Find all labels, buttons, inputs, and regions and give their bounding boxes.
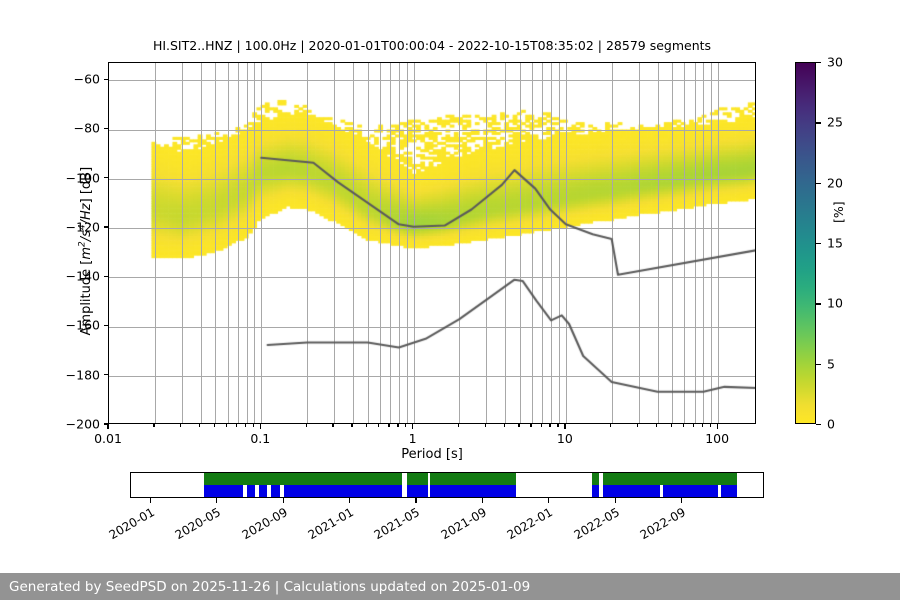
timeline-segment-blue [284, 485, 402, 497]
timeline-tick-label: 2020-01 [101, 505, 156, 545]
y-axis-tick-label: −200 [54, 417, 100, 432]
x-axis-major-tick [412, 424, 413, 429]
x-axis-tick-label: 10 [535, 431, 595, 446]
timeline-segment-blue [259, 485, 268, 497]
y-axis-tick-mark [104, 374, 108, 375]
timeline-segment-blue [271, 485, 280, 497]
y-axis-tick-mark [104, 276, 108, 277]
timeline-tick-mark [482, 498, 483, 503]
x-axis-minor-tick [180, 424, 181, 427]
x-axis-minor-tick [610, 424, 611, 427]
timeline-tick-label: 2022-01 [500, 505, 555, 545]
colorbar-label: [%] [831, 201, 846, 223]
x-axis-minor-tick [683, 424, 684, 427]
colorbar-tick-mark [816, 243, 821, 244]
x-axis-minor-tick [226, 424, 227, 427]
y-axis-tick-label: −60 [54, 72, 100, 87]
x-axis-minor-tick [351, 424, 352, 427]
x-axis-minor-tick [405, 424, 406, 427]
colorbar-tick-label: 15 [827, 236, 843, 251]
timeline-segment-blue [603, 485, 660, 497]
psd-plot-area [108, 62, 756, 424]
x-axis-minor-tick [702, 424, 703, 427]
timeline-segment-green [592, 473, 600, 485]
timeline-segment-green [430, 473, 516, 485]
x-axis-tick-label: 1 [383, 431, 443, 446]
footer-bar: Generated by SeedPSD on 2025-11-26 | Cal… [0, 573, 900, 600]
y-axis-tick-mark [104, 325, 108, 326]
timeline-tick-mark [216, 498, 217, 503]
x-axis-minor-tick [485, 424, 486, 427]
colorbar-tick-label: 20 [827, 175, 843, 190]
timeline-segment-blue [204, 485, 244, 497]
x-axis-minor-tick [388, 424, 389, 427]
colorbar-tick-label: 30 [827, 55, 843, 70]
colorbar-tick-label: 5 [827, 356, 835, 371]
x-axis-minor-tick [378, 424, 379, 427]
timeline-tick-label: 2021-09 [433, 505, 488, 545]
x-axis-minor-tick [199, 424, 200, 427]
y-axis-tick-label: −140 [54, 269, 100, 284]
x-axis-tick-label: 0.01 [78, 431, 138, 446]
y-axis-tick-label: −160 [54, 318, 100, 333]
colorbar-tick-mark [816, 424, 821, 425]
x-axis-minor-tick [504, 424, 505, 427]
x-axis-minor-tick [557, 424, 558, 427]
timeline-segment-green [603, 473, 737, 485]
x-axis-minor-tick [214, 424, 215, 427]
psd-figure: HI.SIT2..HNZ | 100.0Hz | 2020-01-01T00:0… [0, 0, 900, 600]
colorbar-tick-mark [816, 303, 821, 304]
timeline-segment-blue [430, 485, 516, 497]
timeline-tick-label: 2021-01 [301, 505, 356, 545]
x-axis-minor-tick [637, 424, 638, 427]
colorbar-gradient [796, 63, 815, 423]
x-axis-minor-tick [530, 424, 531, 427]
timeline-segment-blue [247, 485, 255, 497]
colorbar-tick-label: 10 [827, 296, 843, 311]
colorbar-tick-mark [816, 122, 821, 123]
x-axis-minor-tick [236, 424, 237, 427]
x-axis-minor-tick [549, 424, 550, 427]
data-availability-timeline [130, 472, 764, 498]
x-axis-minor-tick [366, 424, 367, 427]
x-axis-major-tick [717, 424, 718, 429]
y-axis-tick-mark [104, 79, 108, 80]
timeline-tick-mark [548, 498, 549, 503]
y-axis-tick-label: −180 [54, 367, 100, 382]
y-axis-label: Amplitude [m2/s4/Hz] [dB] [78, 101, 94, 401]
x-axis-minor-tick [306, 424, 307, 427]
x-axis-major-tick [564, 424, 565, 429]
timeline-tick-label: 2022-05 [566, 505, 621, 545]
x-axis-minor-tick [332, 424, 333, 427]
y-axis-tick-label: −100 [54, 170, 100, 185]
timeline-tick-label: 2022-09 [633, 505, 688, 545]
colorbar-tick-label: 0 [827, 417, 835, 432]
timeline-segment-blue [721, 485, 737, 497]
x-axis-tick-label: 100 [687, 431, 747, 446]
x-axis-major-tick [107, 424, 108, 429]
x-axis-minor-tick [656, 424, 657, 427]
x-axis-major-tick [260, 424, 261, 429]
colorbar-tick-label: 25 [827, 115, 843, 130]
colorbar-tick-mark [816, 62, 821, 63]
y-axis-tick-mark [104, 128, 108, 129]
y-axis-tick-mark [104, 177, 108, 178]
timeline-segment-green [204, 473, 403, 485]
y-axis-tick-label: −80 [54, 121, 100, 136]
timeline-tick-mark [150, 498, 151, 503]
x-axis-minor-tick [253, 424, 254, 427]
x-axis-minor-tick [458, 424, 459, 427]
x-axis-minor-tick [245, 424, 246, 427]
x-axis-minor-tick [541, 424, 542, 427]
timeline-tick-mark [415, 498, 416, 503]
noise-model-curves [109, 63, 756, 424]
timeline-tick-label: 2021-05 [367, 505, 422, 545]
x-axis-minor-tick [153, 424, 154, 427]
page-title: HI.SIT2..HNZ | 100.0Hz | 2020-01-01T00:0… [108, 38, 756, 53]
timeline-tick-label: 2020-09 [234, 505, 289, 545]
colorbar-tick-mark [816, 183, 821, 184]
timeline-segment-blue [592, 485, 600, 497]
x-axis-minor-tick [693, 424, 694, 427]
x-axis-minor-tick [518, 424, 519, 427]
footer-text: Generated by SeedPSD on 2025-11-26 | Cal… [0, 579, 530, 595]
y-axis-tick-label: −120 [54, 219, 100, 234]
x-axis-minor-tick [710, 424, 711, 427]
timeline-tick-mark [283, 498, 284, 503]
timeline-tick-label: 2020-05 [168, 505, 223, 545]
timeline-tick-mark [615, 498, 616, 503]
timeline-segment-green [407, 473, 428, 485]
timeline-segment-blue [663, 485, 718, 497]
colorbar [795, 62, 816, 424]
y-axis-tick-mark [104, 226, 108, 227]
x-axis-tick-label: 0.1 [230, 431, 290, 446]
timeline-segment-blue [407, 485, 428, 497]
x-axis-label: Period [s] [108, 447, 756, 462]
timeline-tick-mark [681, 498, 682, 503]
x-axis-minor-tick [671, 424, 672, 427]
colorbar-tick-mark [816, 364, 821, 365]
x-axis-minor-tick [397, 424, 398, 427]
timeline-tick-mark [349, 498, 350, 503]
